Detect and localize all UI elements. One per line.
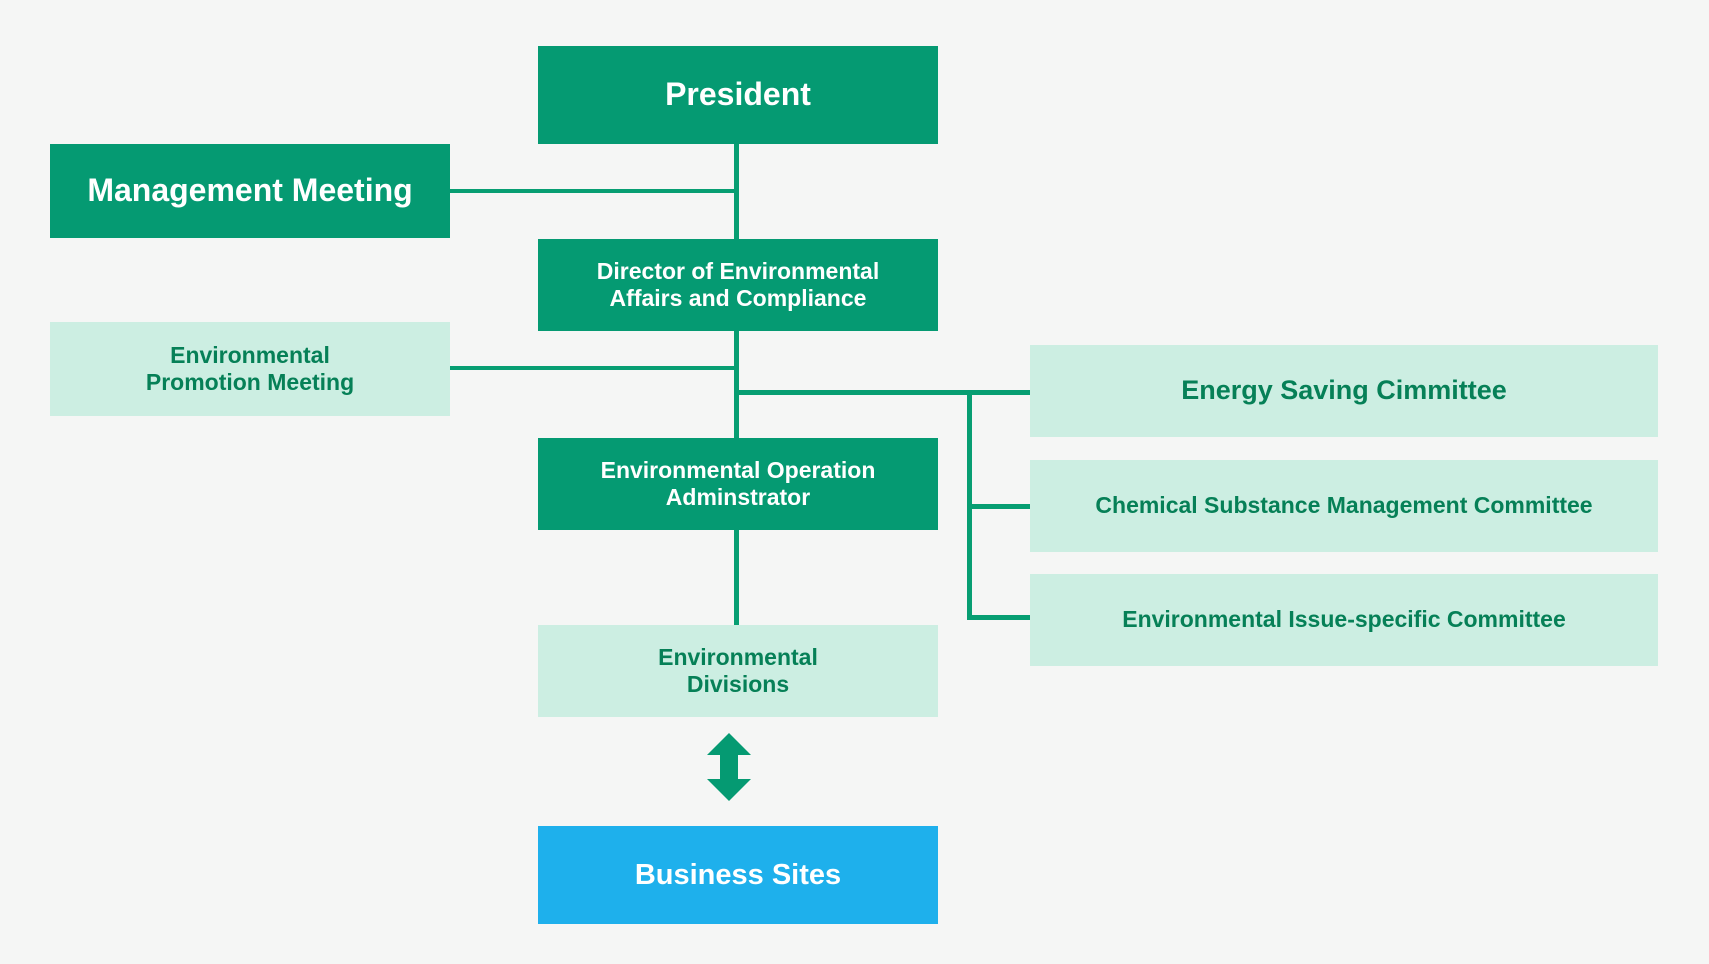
connector-energy-saving-branch <box>967 390 1033 395</box>
node-director-line2: Affairs and Compliance <box>610 285 867 311</box>
node-president[interactable]: President <box>538 46 938 144</box>
connector-issue-specific-branch <box>967 615 1033 620</box>
node-energy-saving-committee[interactable]: Energy Saving Cimmittee <box>1030 345 1658 437</box>
node-environmental-issue-specific-committee[interactable]: Environmental Issue-specific Committee <box>1030 574 1658 666</box>
node-divisions-line2: Divisions <box>687 671 789 697</box>
node-chemical-substance-management-committee[interactable]: Chemical Substance Management Committee <box>1030 460 1658 552</box>
node-director-line1: Director of Environmental <box>597 258 879 284</box>
node-operation-admin-text: Environmental Operation Adminstrator <box>601 457 876 511</box>
connector-management-meeting-horizontal <box>448 189 738 193</box>
bidirectional-arrow-icon <box>707 733 751 801</box>
node-director-text: Director of Environmental Affairs and Co… <box>597 258 879 312</box>
connector-committee-bus-horizontal <box>734 390 972 395</box>
node-environmental-divisions[interactable]: Environmental Divisions <box>538 625 938 717</box>
node-environmental-operation-administrator[interactable]: Environmental Operation Adminstrator <box>538 438 938 530</box>
node-promotion-line1: Environmental <box>170 342 330 368</box>
node-divisions-text: Environmental Divisions <box>658 644 818 698</box>
org-chart-diagram: President Management Meeting Director of… <box>0 0 1709 964</box>
node-director-environmental-affairs[interactable]: Director of Environmental Affairs and Co… <box>538 239 938 331</box>
node-promotion-text: Environmental Promotion Meeting <box>146 342 354 396</box>
node-divisions-line1: Environmental <box>658 644 818 670</box>
connector-trunk-vertical <box>734 140 739 632</box>
node-operation-admin-line2: Adminstrator <box>666 484 810 510</box>
node-business-sites[interactable]: Business Sites <box>538 826 938 924</box>
connector-promotion-meeting-horizontal <box>448 366 738 370</box>
connector-chemical-substance-branch <box>967 504 1033 509</box>
node-environmental-promotion-meeting[interactable]: Environmental Promotion Meeting <box>50 322 450 416</box>
node-management-meeting[interactable]: Management Meeting <box>50 144 450 238</box>
node-promotion-line2: Promotion Meeting <box>146 369 354 395</box>
node-operation-admin-line1: Environmental Operation <box>601 457 876 483</box>
